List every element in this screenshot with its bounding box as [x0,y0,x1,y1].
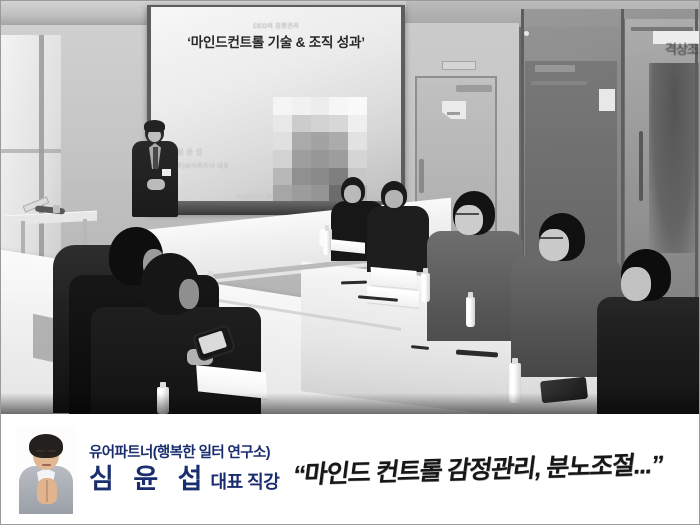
speaker-name: 심 윤 섭 [89,464,209,494]
mosaic-tile [311,150,330,168]
seminar-photograph: CEO의 감정관리 ‘마인드컨트롤 기술 & 조직 성과’ 심 윤 섭 (주)유… [1,1,700,414]
glass-inner-plate [535,65,575,72]
avatar-mouth [42,464,51,466]
mosaic-tile [348,150,367,168]
side-table-object-box [53,205,60,213]
attendee-face [385,190,403,208]
mosaic-tile [292,150,311,168]
speaker-avatar [15,426,77,514]
glass-inner-bar [531,81,587,85]
organization-label: 유어파트너(행복한 일터 연구소) [89,445,279,462]
speaker-role: 대표 직강 [211,472,280,492]
photo-bottom-vignette [1,393,700,414]
presenter-hair [144,120,165,132]
mosaic-tile [311,115,330,133]
image-frame: CEO의 감정관리 ‘마인드컨트롤 기술 & 조직 성과’ 심 윤 섭 (주)유… [0,0,700,525]
avatar-hand-divider [46,480,48,502]
glass-reflection-figure [649,63,699,253]
mosaic-tile [329,115,348,133]
quote-area: “마인드 컨트롤 감정관리, 분노조절...” [279,450,700,486]
attendee-face [179,279,199,309]
door-handle [419,159,424,193]
water-bottle [323,230,331,255]
presenter-hands [147,179,165,190]
water-bottle [421,273,430,302]
mosaic-tile [273,168,292,186]
caption-bar: 유어파트너(행복한 일터 연구소) 심 윤 섭대표 직강 “마인드 컨트롤 감정… [1,414,700,525]
attendee-body [367,206,429,272]
speaker-info: 유어파트너(행복한 일터 연구소) 심 윤 섭대표 직강 [89,445,279,495]
water-bottle [466,297,475,327]
mosaic-tile [292,168,311,186]
slide-speaker-name: 심 윤 섭 [177,147,203,157]
attendee-face [344,185,361,203]
eyeglasses-icon [455,213,479,215]
slide-speaker-affiliation: (주)유어파트너 대표 [174,161,229,170]
attendee-face [539,229,569,261]
mosaic-tile [292,115,311,133]
slide-title: ‘마인드컨트롤 기술 & 조직 성과’ [151,31,401,51]
wall-plate [442,61,476,70]
attendee-face [455,205,483,235]
presenter-name-badge [162,169,171,176]
presenter-tie [153,147,158,169]
mosaic-tile [273,97,292,115]
mosaic-tile [329,132,348,150]
avatar-hair [29,434,63,458]
avatar-eyebrow-left [36,450,44,452]
eyeglasses-icon [539,237,563,239]
door-closer [456,85,492,92]
glass-door-tag [599,89,615,111]
quote-text: “마인드 컨트롤 감정관리, 분노조절...” [291,445,665,491]
mosaic-tile [311,132,330,150]
mosaic-tile [273,132,292,150]
mosaic-tile [329,97,348,115]
mosaic-tile [348,97,367,115]
mosaic-tile [311,97,330,115]
mosaic-tile [292,97,311,115]
ceiling-light-dot [524,31,529,36]
mosaic-tile [292,132,311,150]
slide-subtitle: CEO의 감정관리 [151,21,401,30]
avatar-eye-left [37,454,43,457]
avatar-eyebrow-right [48,450,56,452]
glass-door-handle [639,131,643,201]
glass-mullion-right [695,9,698,339]
attendee-body [427,231,523,341]
window-mullion-horizontal [1,149,61,153]
mosaic-tile [273,150,292,168]
avatar-eye-right [49,454,55,457]
attendee-face [621,267,651,301]
mosaic-tile [348,132,367,150]
mosaic-tile [348,115,367,133]
mosaic-tile [329,150,348,168]
speaker-name-line: 심 윤 섭대표 직강 [89,465,279,495]
mosaic-tile [273,115,292,133]
glass-sign-text: 격상조 [665,39,700,58]
mosaic-tile [311,168,330,186]
